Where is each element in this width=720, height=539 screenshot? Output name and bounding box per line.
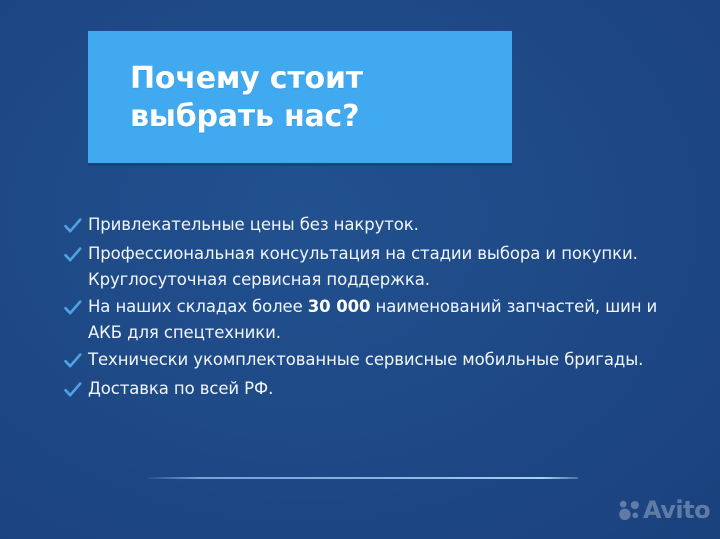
list-item-text: Доставка по всей РФ.: [84, 376, 662, 402]
check-icon: [62, 348, 84, 374]
list-item-text: Технически укомплектованные сервисные мо…: [84, 347, 662, 373]
list-item: Привлекательные цены без накруток.: [62, 212, 662, 239]
divider: [148, 477, 578, 479]
slide-canvas: Почему стоит выбрать нас? Привлекательны…: [0, 0, 720, 539]
heading-box: Почему стоит выбрать нас?: [88, 31, 512, 163]
list-item: На наших складах более 30 000 наименован…: [62, 294, 662, 345]
avito-dots-logo-icon: [619, 500, 640, 521]
list-item: Профессиональная консультация на стадии …: [62, 241, 662, 292]
avito-wordmark: Avito: [643, 498, 710, 522]
list-item: Доставка по всей РФ.: [62, 376, 662, 403]
benefits-list: Привлекательные цены без накруток. Профе…: [62, 212, 662, 405]
list-item: Технически укомплектованные сервисные мо…: [62, 347, 662, 374]
check-icon: [62, 295, 84, 321]
avito-watermark: Avito: [619, 498, 710, 522]
check-icon: [62, 377, 84, 403]
list-item-text: На наших складах более 30 000 наименован…: [84, 294, 662, 345]
page-title: Почему стоит выбрать нас?: [130, 60, 363, 136]
check-icon: [62, 213, 84, 239]
list-item-text: Профессиональная консультация на стадии …: [84, 241, 662, 292]
check-icon: [62, 242, 84, 268]
list-item-text: Привлекательные цены без накруток.: [84, 212, 662, 238]
